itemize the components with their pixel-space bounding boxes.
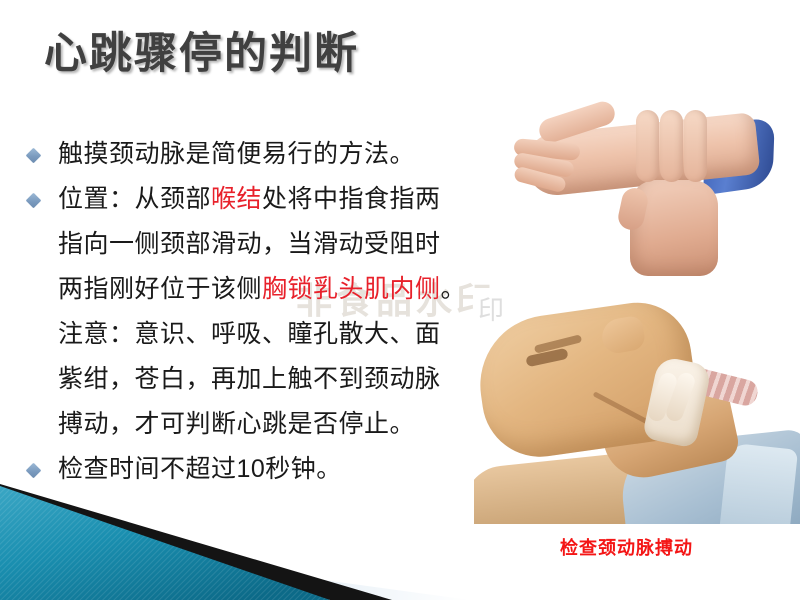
list-item-text: 位置：从颈部 bbox=[58, 185, 211, 213]
examiner-finger bbox=[684, 110, 707, 182]
illustration-watermark: 印 bbox=[478, 290, 506, 327]
list-item: 触摸颈动脉是简便易行的方法。 bbox=[18, 132, 498, 177]
examiner-finger bbox=[636, 110, 659, 182]
corner-ribbon-decoration bbox=[0, 470, 800, 600]
ribbon-teal-texture bbox=[0, 486, 330, 600]
diamond-bullet-icon bbox=[26, 148, 42, 164]
highlight-text: 喉结 bbox=[211, 185, 262, 213]
page-title: 心跳骤停的判断 bbox=[44, 30, 359, 79]
radial-pulse-photo bbox=[508, 96, 796, 281]
slide-canvas: 心跳骤停的判断 非食品水印 触摸颈动脉是简便易行的方法。 位置：从颈部喉结处将中… bbox=[0, 0, 800, 600]
diamond-bullet-icon bbox=[26, 193, 42, 209]
list-item-continuation: 两指刚好位于该侧胸锁乳头肌内侧。 bbox=[18, 267, 498, 312]
list-item-continuation: 紫绀，苍白，再加上触不到颈动脉 bbox=[18, 357, 498, 402]
list-item: 位置：从颈部喉结处将中指食指两 bbox=[18, 177, 498, 222]
examiner-finger bbox=[660, 110, 683, 182]
list-item-continuation: 注意：意识、呼吸、瞳孔散大、面 bbox=[18, 312, 498, 357]
body-text-block: 触摸颈动脉是简便易行的方法。 位置：从颈部喉结处将中指食指两 指向一侧颈部滑动，… bbox=[18, 132, 498, 492]
list-item-text: 两指刚好位于该侧 bbox=[58, 275, 262, 303]
list-item-text: 。 bbox=[441, 275, 467, 303]
list-item-continuation: 搏动，才可判断心跳是否停止。 bbox=[18, 402, 498, 447]
highlight-text: 胸锁乳头肌内侧 bbox=[262, 275, 441, 303]
list-item-text: 紫绀，苍白，再加上触不到颈动脉 bbox=[58, 365, 441, 393]
list-item-text: 指向一侧颈部滑动，当滑动受阻时 bbox=[58, 230, 441, 258]
list-item-text: 搏动，才可判断心跳是否停止。 bbox=[58, 410, 415, 438]
list-item-continuation: 指向一侧颈部滑动，当滑动受阻时 bbox=[18, 222, 498, 267]
list-item-text: 触摸颈动脉是简便易行的方法。 bbox=[58, 140, 415, 168]
list-item-text: 处将中指食指两 bbox=[262, 185, 441, 213]
list-item-text: 注意：意识、呼吸、瞳孔散大、面 bbox=[58, 320, 441, 348]
